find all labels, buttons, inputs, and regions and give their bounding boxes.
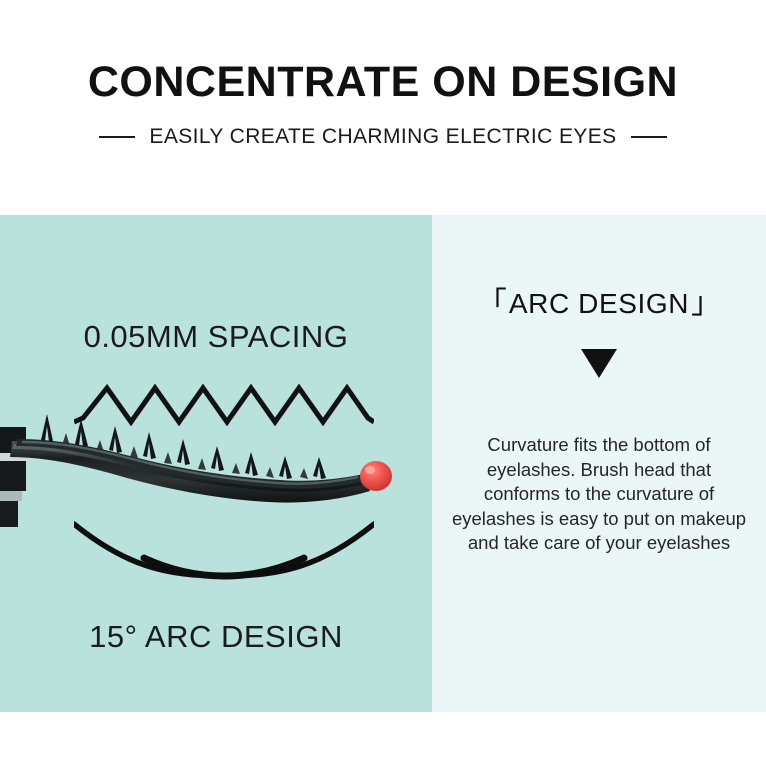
feature-panels: 0.05MM SPACING (0, 215, 766, 712)
arc-design-description: Curvature fits the bottom of eyelashes. … (449, 433, 749, 556)
page-title: CONCENTRATE ON DESIGN (0, 57, 766, 107)
arc-curve-icon (74, 520, 374, 582)
header-banner: CONCENTRATE ON DESIGN EASILY CREATE CHAR… (0, 0, 766, 215)
left-dash-divider (99, 136, 135, 138)
triangle-down-icon (432, 349, 766, 378)
corner-bracket-open-icon: 「 (477, 287, 507, 321)
right-feature-panel: 「 ARC DESIGN 」 Curvature fits the bottom… (432, 215, 766, 712)
page-subtitle: EASILY CREATE CHARMING ELECTRIC EYES (149, 124, 616, 150)
spacing-label: 0.05MM SPACING (0, 319, 432, 355)
triangle-down-shape (581, 349, 617, 378)
right-dash-divider (631, 136, 667, 138)
corner-bracket-close-icon: 」 (691, 287, 721, 321)
product-photo-brush-head (0, 411, 408, 531)
arc-design-label: 15° ARC DESIGN (0, 619, 432, 655)
arc-design-heading-row: 「 ARC DESIGN 」 (432, 287, 766, 321)
arc-design-heading: ARC DESIGN (509, 287, 689, 321)
subtitle-row: EASILY CREATE CHARMING ELECTRIC EYES (0, 124, 766, 150)
left-feature-panel: 0.05MM SPACING (0, 215, 432, 712)
